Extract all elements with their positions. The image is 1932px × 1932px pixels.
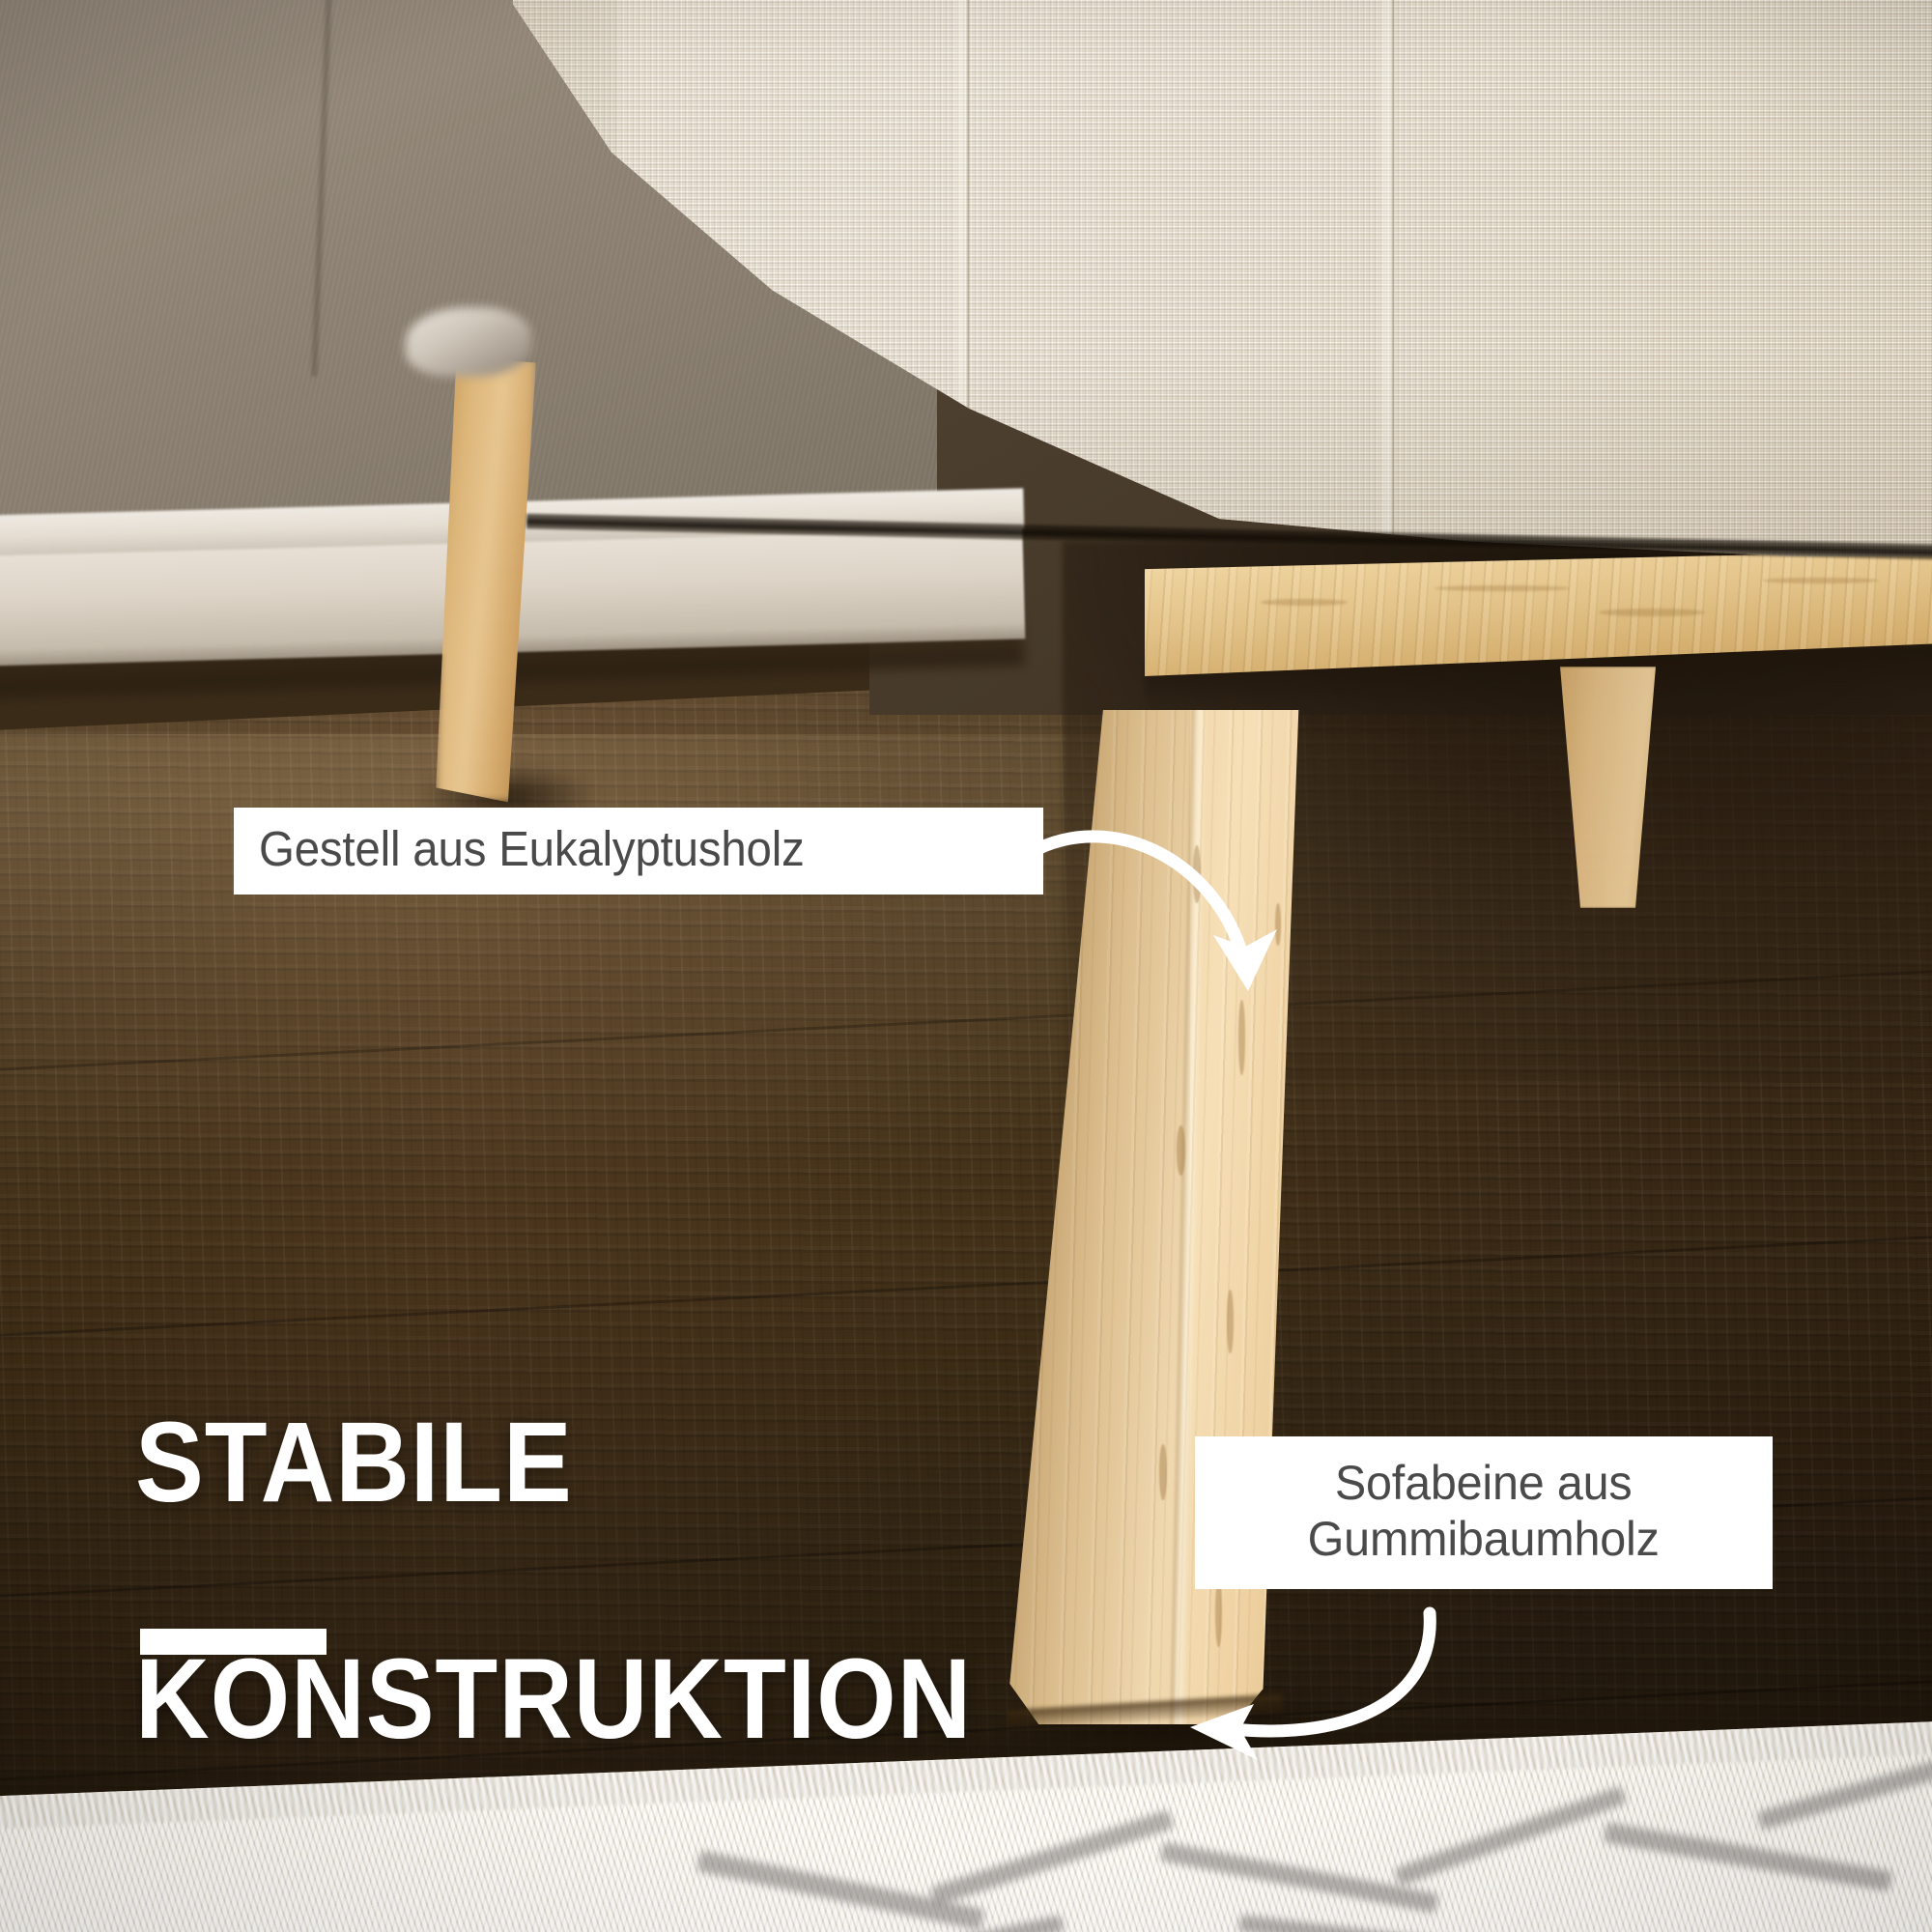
- wood-grain-tick: [1227, 1290, 1234, 1353]
- callout-frame-label: Gestell aus Eukalyptusholz: [259, 820, 805, 877]
- product-photo-scene: Gestell aus Eukalyptusholz STABILE KONST…: [0, 0, 1932, 1932]
- wood-grain-tick: [1215, 1579, 1222, 1647]
- headline-line-1: STABILE: [135, 1404, 972, 1522]
- wood-grain-tick: [1177, 1125, 1185, 1176]
- wood-grain-tick: [1159, 1444, 1167, 1500]
- wood-grain-mark: [1599, 609, 1705, 616]
- page-title: STABILE KONSTRUKTION: [135, 1285, 1065, 1878]
- dash-accent-icon: [140, 1629, 327, 1655]
- wood-grain-tick: [1275, 903, 1281, 946]
- callout-frame-material: Gestell aus Eukalyptusholz: [234, 808, 1043, 895]
- wood-grain-mark: [1261, 599, 1348, 606]
- rear-leg-bracket: [406, 307, 531, 377]
- wood-grain-tick: [1193, 845, 1201, 903]
- wood-grain-mark: [1435, 585, 1570, 591]
- callout-legs-label: Sofabeine aus Gummibaumholz: [1308, 1455, 1660, 1567]
- wood-grain-tick: [1238, 1000, 1245, 1075]
- headline-line-2: KONSTRUKTION: [135, 1640, 972, 1759]
- callout-legs-material: Sofabeine aus Gummibaumholz: [1195, 1436, 1773, 1589]
- wood-grain-mark: [1763, 578, 1879, 583]
